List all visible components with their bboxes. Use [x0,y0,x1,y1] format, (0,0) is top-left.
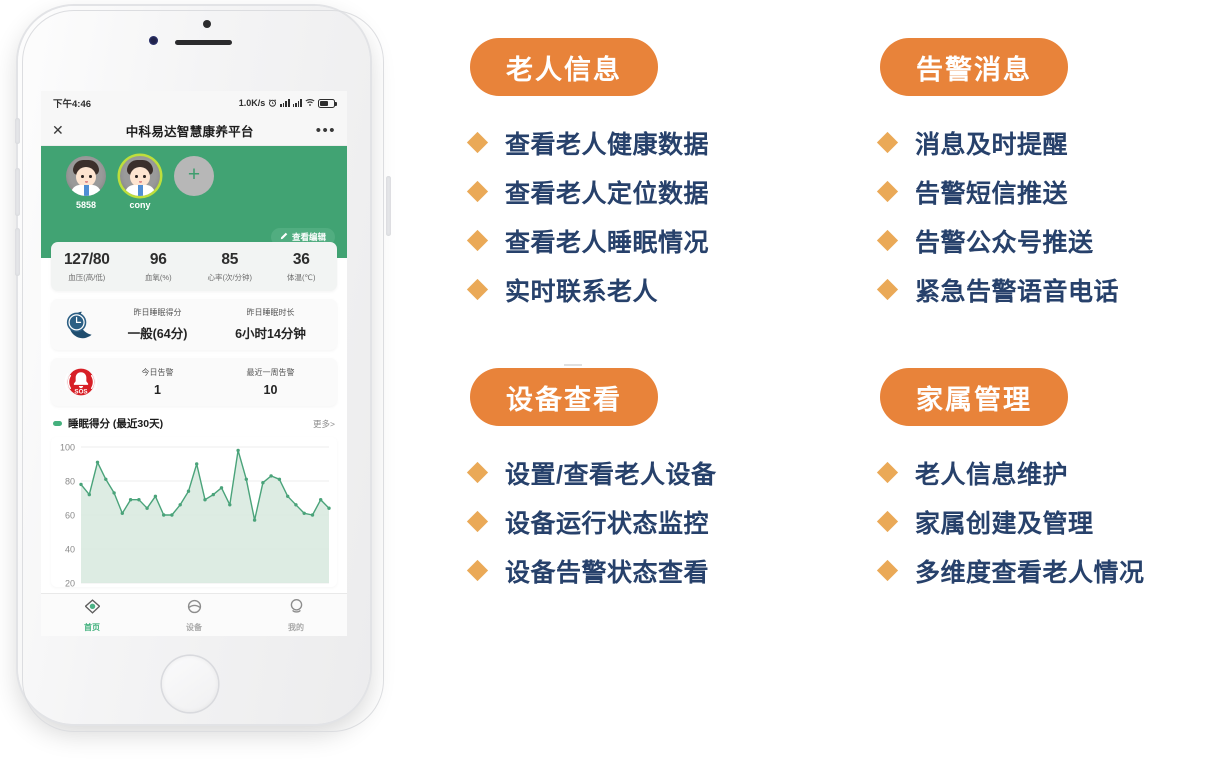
phone-screen: 下午4:46 1.0K/s ✕ 中科易达智慧康养平台 [41,91,347,636]
network-speed: 1.0K/s [239,98,266,108]
vital-label: 血氧(%) [123,272,195,283]
week-alarm-col: 最近一周告警 10 [214,367,327,397]
sleep-summary-card[interactable]: 昨日睡眠得分 一般(64分) 昨日睡眠时长 6小时14分钟 [51,299,337,350]
group-title-pill[interactable]: 老人信息 [470,38,658,96]
list-item-label: 查看老人定位数据 [505,174,709,210]
page-title: 中科易达智慧康养平台 [126,121,254,140]
list-item[interactable]: 查看老人睡眠情况 [470,216,709,265]
list-item-label: 查看老人睡眠情况 [505,223,709,259]
list-item[interactable]: 多维度查看老人情况 [880,546,1145,595]
phone-mockup: 下午4:46 1.0K/s ✕ 中科易达智慧康养平台 [18,6,388,736]
week-alarm-title: 最近一周告警 [214,367,327,378]
list-item[interactable]: 老人信息维护 [880,448,1145,497]
avatar-label: cony [120,200,160,210]
list-item-label: 告警短信推送 [915,174,1068,210]
vital-label: 心率(次/分钟) [194,272,266,283]
vital-item[interactable]: 96 血氧(%) [123,251,195,283]
chart-more-link[interactable]: 更多> [313,418,335,430]
list-item-label: 查看老人健康数据 [505,125,709,161]
diamond-bullet-icon [467,132,488,153]
status-bar: 下午4:46 1.0K/s [41,91,347,115]
list-item-label: 家属创建及管理 [915,504,1094,540]
list-item[interactable]: 设备告警状态查看 [470,546,716,595]
group-items: 消息及时提醒 告警短信推送 告警公众号推送 紧急告警语音电话 [880,118,1119,314]
list-item-label: 消息及时提醒 [915,125,1068,161]
list-item[interactable]: 紧急告警语音电话 [880,265,1119,314]
diamond-bullet-icon [877,230,898,251]
diamond-bullet-icon [877,181,898,202]
avatar [66,156,106,196]
svg-text:40: 40 [65,545,75,555]
close-icon[interactable]: ✕ [52,123,64,137]
feature-group-family-management: 家属管理 老人信息维护 家属创建及管理 多维度查看老人情况 [880,368,1145,595]
tab-home[interactable]: 首页 [41,594,143,636]
vital-item[interactable]: 36 体温(℃) [266,251,338,283]
feature-group-alarm-message: 告警消息 消息及时提醒 告警短信推送 告警公众号推送 紧急告警语音电话 [880,38,1119,314]
diamond-bullet-icon [877,560,898,581]
diamond-bullet-icon [467,560,488,581]
avatar-item-selected[interactable]: cony [120,156,160,210]
week-alarm-value: 10 [214,383,327,397]
signal-icon [280,99,289,107]
tab-profile-label: 我的 [288,622,304,633]
diamond-bullet-icon [877,279,898,300]
tab-device-label: 设备 [186,622,202,633]
diamond-bullet-icon [877,132,898,153]
group-title-pill[interactable]: 告警消息 [880,38,1068,96]
sos-bell-icon: SOS [61,366,101,398]
svg-text:60: 60 [65,511,75,521]
decorative-tick [564,364,582,366]
svg-text:80: 80 [65,477,75,487]
feature-group-elder-info: 老人信息 查看老人健康数据 查看老人定位数据 查看老人睡眠情况 实时联系老人 [470,38,709,314]
diamond-bullet-icon [877,511,898,532]
avatar-list: 5858 cony + [41,156,347,210]
feature-group-device-view: 设备查看 设置/查看老人设备 设备运行状态监控 设备告警状态查看 [470,368,716,595]
vital-value: 85 [194,251,266,269]
moon-clock-icon [61,310,101,340]
device-icon [186,598,203,620]
avatar-item[interactable]: 5858 [66,156,106,210]
vital-value: 96 [123,251,195,269]
list-item-label: 实时联系老人 [505,272,658,308]
app-nav-bar: ✕ 中科易达智慧康养平台 ••• [41,115,347,146]
svg-text:100: 100 [60,443,75,453]
vital-value: 36 [266,251,338,269]
svg-text:SOS: SOS [74,389,87,396]
add-elder-button[interactable]: + [174,156,214,196]
vital-label: 体温(℃) [266,272,338,283]
more-options-icon[interactable]: ••• [316,123,336,138]
pencil-icon [280,232,288,242]
group-title: 告警消息 [916,48,1032,87]
volume-up-button[interactable] [15,168,20,216]
tab-device[interactable]: 设备 [143,594,245,636]
list-item-label: 紧急告警语音电话 [915,272,1119,308]
chart-header: 睡眠得分 (最近30天) 更多> [53,416,335,431]
list-item-label: 设备运行状态监控 [505,504,709,540]
sleep-duration-value: 6小时14分钟 [214,323,327,342]
today-alarm-col: 今日告警 1 [101,367,214,397]
group-title: 设备查看 [506,378,622,417]
earpiece-speaker [175,40,232,45]
vital-item[interactable]: 85 心率(次/分钟) [194,251,266,283]
feature-groups: 老人信息 查看老人健康数据 查看老人定位数据 查看老人睡眠情况 实时联系老人 [440,0,1215,775]
group-title-pill[interactable]: 设备查看 [470,368,658,426]
group-title-pill[interactable]: 家属管理 [880,368,1068,426]
group-title: 家属管理 [916,378,1032,417]
vital-value: 127/80 [51,251,123,269]
vital-label: 血压(高/低) [51,272,123,283]
list-item[interactable]: 查看老人定位数据 [470,167,709,216]
section-marker-icon [53,421,62,426]
list-item[interactable]: 实时联系老人 [470,265,709,314]
sleep-score-title: 昨日睡眠得分 [101,307,214,318]
front-camera-icon [149,36,158,45]
group-items: 查看老人健康数据 查看老人定位数据 查看老人睡眠情况 实时联系老人 [470,118,709,314]
status-time: 下午4:46 [53,96,91,110]
group-items: 老人信息维护 家属创建及管理 多维度查看老人情况 [880,448,1145,595]
profile-icon [288,598,305,620]
list-item-label: 设置/查看老人设备 [505,455,716,491]
list-item[interactable]: 家属创建及管理 [880,497,1145,546]
list-item[interactable]: 告警公众号推送 [880,216,1119,265]
slide-canvas: 下午4:46 1.0K/s ✕ 中科易达智慧康养平台 [0,0,1215,775]
diamond-bullet-icon [877,462,898,483]
vital-item[interactable]: 127/80 血压(高/低) [51,251,123,283]
sleep-duration-title: 昨日睡眠时长 [214,307,327,318]
tab-profile[interactable]: 我的 [245,594,347,636]
wifi-icon [305,98,315,109]
sleep-score-chart[interactable]: 10080604020 [51,437,337,587]
today-alarm-title: 今日告警 [101,367,214,378]
list-item[interactable]: 设置/查看老人设备 [470,448,716,497]
diamond-bullet-icon [467,462,488,483]
sleep-score-col: 昨日睡眠得分 一般(64分) [101,307,214,342]
chart-title: 睡眠得分 (最近30天) [68,416,163,431]
list-item-label: 设备告警状态查看 [505,553,709,589]
list-item-label: 告警公众号推送 [915,223,1094,259]
power-button[interactable] [386,176,391,236]
battery-icon [318,99,335,108]
tab-home-label: 首页 [84,622,100,633]
diamond-bullet-icon [467,279,488,300]
status-indicators: 1.0K/s [239,98,335,109]
diamond-bullet-icon [467,230,488,251]
diamond-bullet-icon [467,511,488,532]
volume-down-button[interactable] [15,228,20,276]
alarm-clock-icon [268,98,277,109]
diamond-bullet-icon [467,181,488,202]
avatar-label: 5858 [66,200,106,210]
list-item[interactable]: 查看老人健康数据 [470,118,709,167]
sleep-duration-col: 昨日睡眠时长 6小时14分钟 [214,307,327,342]
svg-text:20: 20 [65,579,75,588]
alarm-summary-card[interactable]: SOS 今日告警 1 最近一周告警 10 [51,358,337,406]
list-item-label: 老人信息维护 [915,455,1068,491]
list-item[interactable]: 消息及时提醒 [880,118,1119,167]
vitals-panel: 127/80 血压(高/低) 96 血氧(%) 85 心率(次/分钟) 36 体… [51,242,337,291]
signal-icon [293,99,302,107]
list-item[interactable]: 设备运行状态监控 [470,497,716,546]
home-button[interactable] [162,656,218,712]
home-icon [84,598,101,620]
group-title: 老人信息 [506,48,622,87]
sleep-score-value: 一般(64分) [101,323,214,342]
today-alarm-value: 1 [101,383,214,397]
list-item-label: 多维度查看老人情况 [915,553,1145,589]
bottom-tab-bar: 首页 设备 我的 [41,593,347,636]
mute-switch[interactable] [15,118,20,144]
proximity-sensor-icon [203,20,211,28]
list-item[interactable]: 告警短信推送 [880,167,1119,216]
avatar [120,156,160,196]
group-items: 设置/查看老人设备 设备运行状态监控 设备告警状态查看 [470,448,716,595]
